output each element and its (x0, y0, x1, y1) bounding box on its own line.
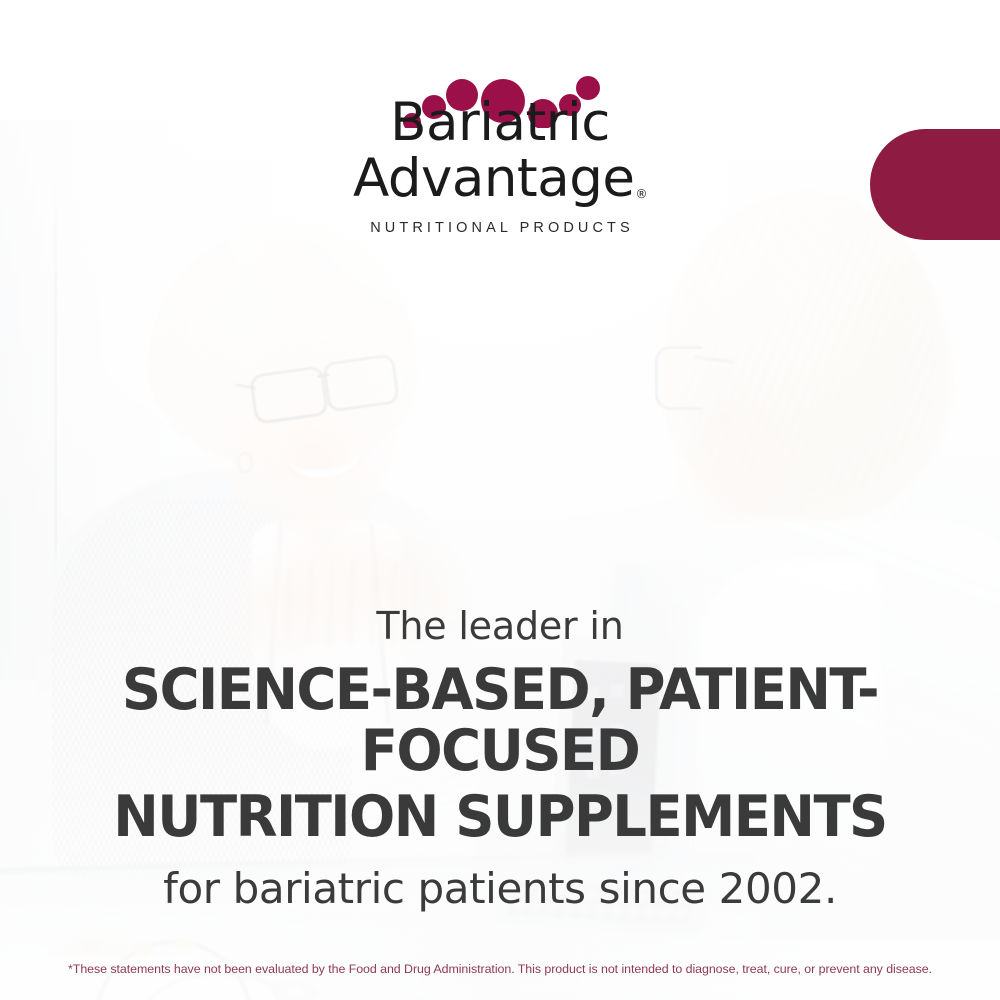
logo-tagline: NUTRITIONAL PRODUCTS (366, 220, 634, 236)
stethoscope-chestpiece (272, 982, 318, 1000)
logo-word-advantage: Advantage ® (353, 152, 647, 205)
patient-earring (237, 452, 253, 473)
logo-word-bariatric: Bariatric (390, 96, 610, 149)
headline-postline: for bariatric patients since 2002. (0, 864, 1000, 913)
headline-main-line-1: SCIENCE-BASED, PATIENT-FOCUSED (122, 657, 878, 785)
headline-block: The leader in SCIENCE-BASED, PATIENT-FOC… (0, 604, 1000, 913)
patient-glasses-right-lens (322, 353, 400, 413)
headline-main: SCIENCE-BASED, PATIENT-FOCUSED NUTRITION… (23, 660, 978, 849)
stethoscope-eartip-right (176, 938, 196, 953)
registered-trademark-icon: ® (635, 188, 647, 200)
stethoscope-eartip-left (133, 942, 153, 957)
headline-preline: The leader in (0, 604, 1000, 649)
logo-word-advantage-text: Advantage (353, 152, 634, 205)
clinician-ear (712, 400, 738, 436)
fda-disclaimer: *These statements have not been evaluate… (0, 961, 1000, 977)
headline-main-line-2: NUTRITION SUPPLEMENTS (23, 787, 978, 849)
marketing-poster: Bariatric Advantage ® NUTRITIONAL PRODUC… (0, 0, 1000, 1000)
bariatric-advantage-logo: Bariatric Advantage ® NUTRITIONAL PRODUC… (0, 72, 1000, 232)
